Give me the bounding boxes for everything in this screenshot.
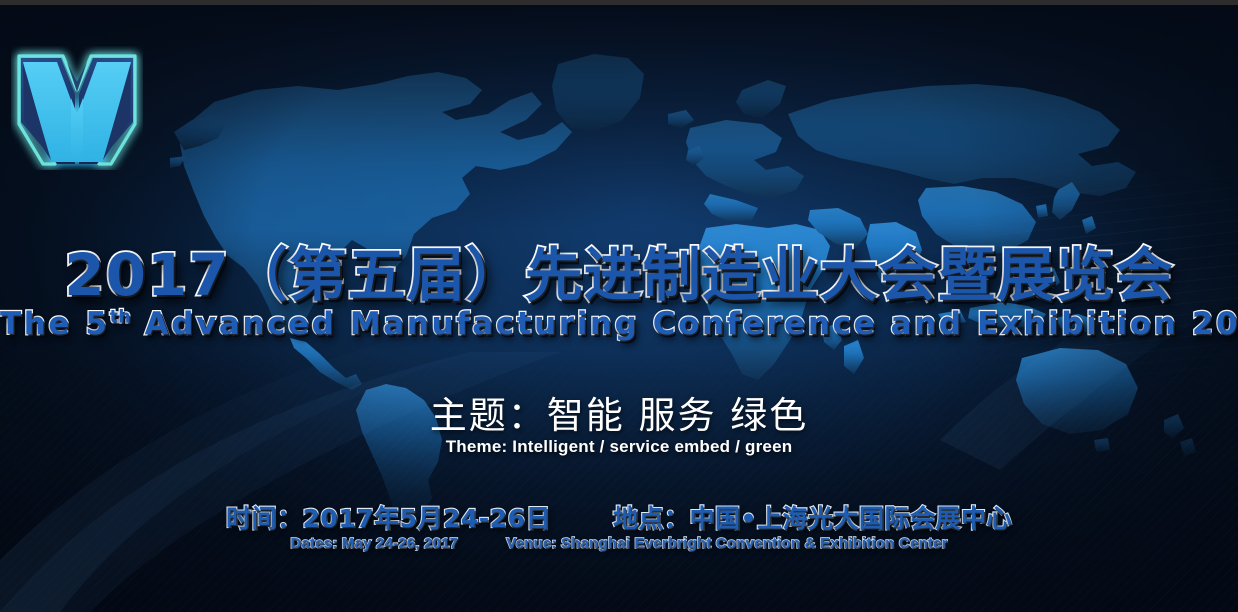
event-venue-chinese: 地点：中国•上海光大国际会展中心: [613, 504, 1012, 533]
event-info-english: Dates: May 24-26, 2017Venue: Shanghai Ev…: [0, 535, 1238, 552]
theme-line-chinese: 主题：智能 服务 绿色: [0, 385, 1238, 439]
title-english-pre: The 5: [0, 306, 110, 342]
shield-m-logo-icon: [11, 46, 143, 170]
event-date-chinese: 时间：2017年5月24-26日: [226, 504, 551, 533]
event-info-chinese: 时间：2017年5月24-26日地点：中国•上海光大国际会展中心: [0, 499, 1238, 535]
page-title-english: The 5th Advanced Manufacturing Conferenc…: [0, 306, 1238, 342]
banner-content: 2017（第五届）先进制造业大会暨展览会 The 5th Advanced Ma…: [0, 0, 1238, 612]
event-date-english: Dates: May 24-26, 2017: [290, 535, 458, 552]
theme-line-english: Theme: Intelligent / service embed / gre…: [0, 437, 1238, 457]
title-ordinal-suffix: th: [110, 308, 132, 328]
top-edge-strip: [0, 0, 1238, 5]
conference-banner: 2017（第五届）先进制造业大会暨展览会 The 5th Advanced Ma…: [0, 0, 1238, 612]
event-venue-english: Venue: Shanghai Everbright Convention & …: [506, 535, 947, 552]
page-title-chinese: 2017（第五届）先进制造业大会暨展览会: [0, 228, 1238, 312]
title-english-post: Advanced Manufacturing Conference and Ex…: [131, 306, 1238, 342]
